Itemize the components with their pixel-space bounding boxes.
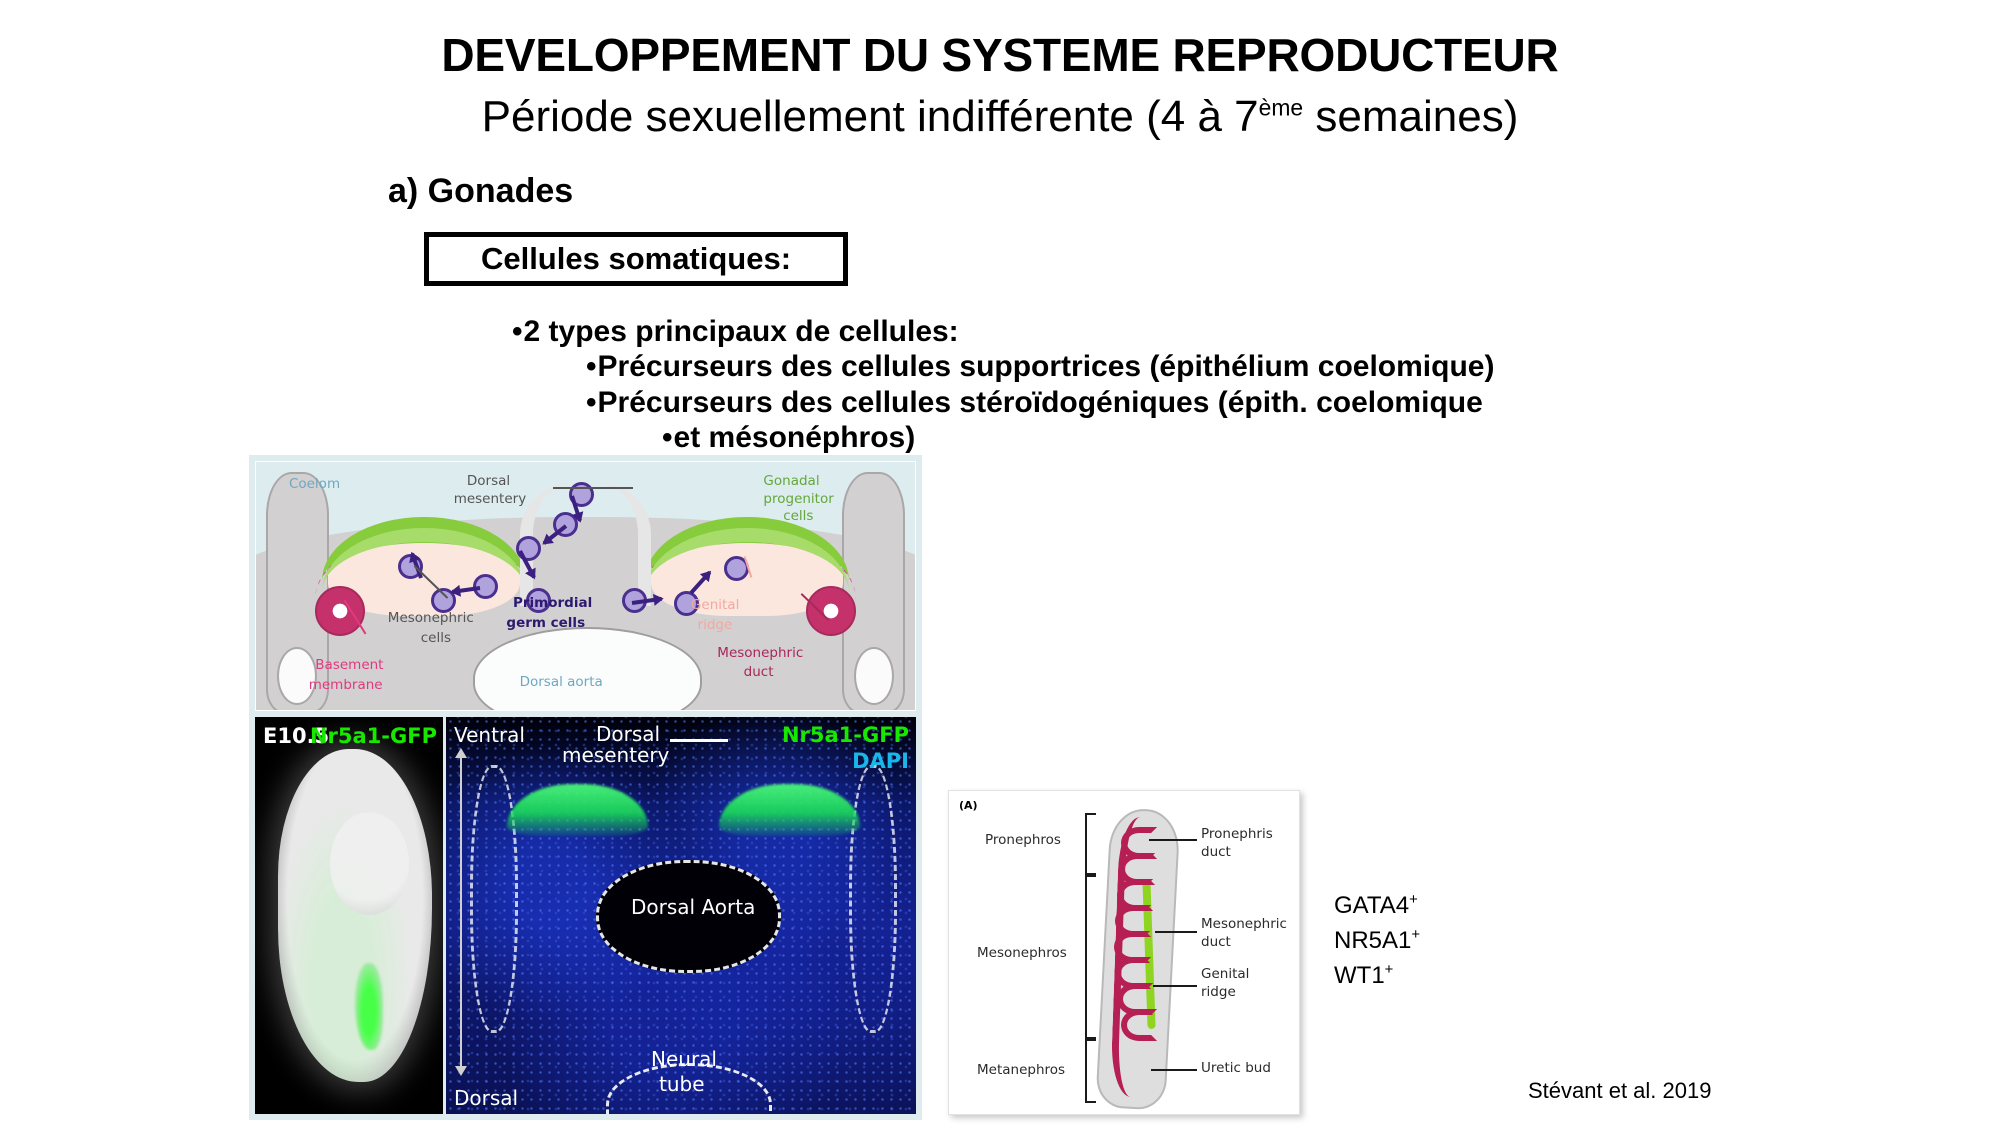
section-outline-left [470, 765, 518, 1033]
bullet-item-3: Précurseurs des cellules stéroïdogénique… [586, 385, 1772, 420]
section-outline-right [849, 765, 897, 1033]
label-section-dorsal-mesentery-line2: mesentery [562, 743, 669, 767]
label-gonadal-progenitor-line2: progenitor [763, 492, 833, 507]
panel-tag-a: (A) [959, 799, 978, 812]
marker-wt1-sup: + [1385, 962, 1394, 978]
label-gonadal-progenitor-line1: Gonadal [763, 474, 819, 489]
label-coelom: Coelom [289, 477, 340, 492]
source-citation: Stévant et al. 2019 [1528, 1078, 1711, 1104]
bullet-item-1: 2 types principaux de cellules: [512, 314, 1772, 349]
label-nephros-genital-ridge-line1: Genital [1201, 967, 1249, 983]
page-subtitle: Période sexuellement indifférente (4 à 7… [0, 92, 2000, 142]
marker-nr5a1: NR5A1+ [1334, 923, 1420, 958]
figure-nephros-schematic: (A) Pronephros Mesonephros Metanephros P… [948, 790, 1300, 1115]
label-pronephros: Pronephros [985, 833, 1061, 849]
label-mesonephric-cells-line1: Mesonephric [388, 611, 474, 626]
label-neural-tube-line2: tube [659, 1072, 705, 1096]
marker-gata4-name: GATA4 [1334, 892, 1409, 919]
label-primordial-germ-cells-line2: germ cells [506, 616, 585, 631]
pronephric-duct-leader [1149, 839, 1197, 841]
micrograph-whole-embryo: E10.5 Nr5a1-GFP [255, 717, 443, 1114]
label-nephros-genital-ridge-line2: ridge [1201, 985, 1236, 1001]
marker-gata4: GATA4+ [1334, 888, 1420, 923]
marker-wt1-name: WT1 [1334, 962, 1385, 989]
nephric-tubule [1121, 1009, 1157, 1041]
bracket-mesonephros [1085, 875, 1096, 1039]
bullet-item-4: et mésonéphros) [662, 420, 1772, 455]
label-section-dorsal-aorta: Dorsal Aorta [631, 895, 755, 919]
label-ventral: Ventral [454, 723, 525, 747]
label-mesonephros: Mesonephros [977, 946, 1067, 962]
label-nephros-mesonephric-duct-line2: duct [1201, 935, 1231, 951]
label-mesonephric-cells-line2: cells [421, 631, 451, 646]
micrograph-row: E10.5 Nr5a1-GFP Ventral Dorsal Dorsal me… [255, 717, 916, 1114]
label-uretic-bud: Uretic bud [1201, 1061, 1271, 1077]
embryo-head-shape [330, 812, 409, 915]
label-mesonephric-duct-line2: duct [744, 665, 774, 680]
marker-nr5a1-name: NR5A1 [1334, 927, 1411, 954]
label-basement-membrane-line1: Basement [315, 658, 383, 673]
label-primordial-germ-cells-line1: Primordial [513, 596, 592, 611]
subtitle-text-before: Période sexuellement indifférente (4 à 7 [482, 92, 1259, 141]
slide-canvas: DEVELOPPEMENT DU SYSTEME REPRODUCTEUR Pé… [0, 0, 2000, 1125]
ventral-dorsal-axis-arrow [460, 757, 462, 1067]
subtitle-superscript: ème [1259, 94, 1304, 120]
label-genital-ridge-line2: ridge [698, 618, 733, 633]
label-neural-tube-line1: Neural [651, 1047, 717, 1071]
uretic-bud-leader [1151, 1069, 1197, 1071]
label-nephros-mesonephric-duct-line1: Mesonephric [1201, 917, 1287, 933]
mesonephric-duct-leader [1155, 931, 1197, 933]
label-mesonephric-duct-line1: Mesonephric [717, 646, 803, 661]
right-flank-inner-shape [854, 647, 894, 706]
mesonephric-duct-right-shape [806, 586, 856, 636]
embryo-silhouette [278, 749, 432, 1082]
callout-box-cellules-somatiques: Cellules somatiques: [424, 232, 848, 286]
label-pronephric-duct-line1: Pronephris [1201, 827, 1273, 843]
label-dorsal: Dorsal [454, 1086, 518, 1110]
micrograph-transverse-section: Ventral Dorsal Dorsal mesentery Dorsal A… [446, 717, 916, 1114]
mesonephric-duct-left-shape [315, 586, 365, 636]
subtitle-text-after: semaines) [1303, 92, 1518, 141]
label-pronephric-duct-line2: duct [1201, 845, 1231, 861]
figure-gonad-development: Coelom Dorsal mesentery Gonadal progenit… [249, 455, 922, 1120]
marker-nr5a1-sup: + [1411, 927, 1420, 943]
marker-gata4-sup: + [1409, 892, 1418, 908]
bullet-list: 2 types principaux de cellules: Précurse… [512, 314, 1772, 456]
genital-ridge-leader [1153, 985, 1197, 987]
label-embryo-marker: Nr5a1-GFP [310, 724, 437, 748]
label-metanephros: Metanephros [977, 1063, 1065, 1079]
page-title: DEVELOPPEMENT DU SYSTEME REPRODUCTEUR [0, 28, 2000, 82]
schematic-genital-ridge-diagram: Coelom Dorsal mesentery Gonadal progenit… [255, 461, 916, 711]
callout-box-label: Cellules somatiques: [481, 241, 791, 277]
label-genital-ridge-line1: Genital [691, 598, 739, 613]
marker-wt1: WT1+ [1334, 958, 1420, 993]
left-flank-inner-shape [277, 647, 317, 706]
section-heading-gonades: a) Gonades [388, 172, 573, 211]
bullet-item-2: Précurseurs des cellules supportrices (é… [586, 349, 1772, 384]
label-dorsal-aorta: Dorsal aorta [520, 675, 603, 690]
label-dorsal-mesentery-line2: mesentery [454, 492, 527, 507]
label-gonadal-progenitor-line3: cells [783, 509, 813, 524]
label-dorsal-mesentery-line1: Dorsal [467, 474, 510, 489]
marker-list: GATA4+ NR5A1+ WT1+ [1334, 888, 1420, 993]
label-basement-membrane-line2: membrane [309, 678, 383, 693]
mesentery-leader-line [553, 487, 633, 489]
bracket-pronephros [1085, 813, 1096, 875]
label-section-marker-gfp: Nr5a1-GFP [782, 723, 909, 747]
bracket-metanephros [1085, 1039, 1096, 1103]
label-section-marker-dapi: DAPI [852, 749, 909, 773]
mesentery-pointer-line [670, 739, 728, 742]
